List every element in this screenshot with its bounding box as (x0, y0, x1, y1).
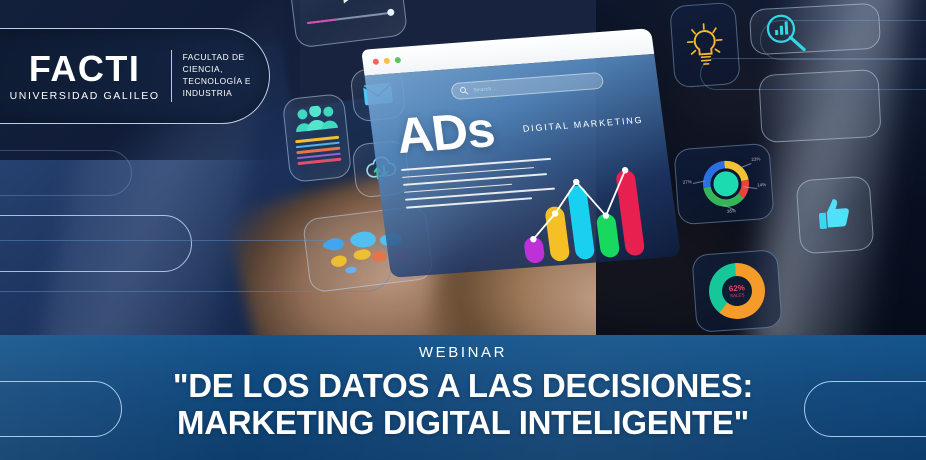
browser-content: Search... ADs DIGITAL MARKETING (365, 54, 681, 278)
donut-center-value: 62% SALES (729, 283, 746, 298)
ads-heading: ADs (393, 100, 497, 165)
webinar-kicker: WEBINAR (0, 344, 926, 361)
donut-single-chart: 62% SALES (707, 261, 767, 321)
webinar-title-line-1: "DE LOS DATOS A LAS DECISIONES: (0, 367, 926, 404)
webinar-poster: FACTI UNIVERSIDAD GALILEO FACULTAD DE CI… (0, 0, 926, 460)
donut-label-23: 23% (751, 156, 760, 162)
search-icon (459, 86, 469, 96)
thumbs-up-icon (813, 193, 858, 238)
video-progress-handle[interactable] (387, 8, 395, 16)
digital-marketing-tagline: DIGITAL MARKETING (522, 115, 644, 134)
donut-label-14: 14% (757, 182, 766, 188)
donut-multi-hole (709, 167, 742, 200)
facti-logo-badge: FACTI UNIVERSIDAD GALILEO FACULTAD DE CI… (0, 28, 270, 124)
search-input[interactable]: Search... (450, 72, 604, 100)
logo-facti-text: FACTI (29, 51, 141, 87)
logo-faculty-text: FACULTAD DE CIENCIA, TECNOLOGÍA E INDUST… (183, 52, 251, 100)
donut-label-27: 27% (683, 179, 692, 185)
tile-like[interactable] (796, 176, 875, 255)
logo-divider (171, 50, 172, 102)
faculty-line-4: INDUSTRIA (183, 88, 251, 100)
play-icon[interactable] (333, 0, 362, 11)
bottom-banner: WEBINAR "DE LOS DATOS A LAS DECISIONES: … (0, 335, 926, 460)
faculty-line-2: CIENCIA, (183, 64, 251, 76)
audience-bar-chart (295, 136, 341, 165)
donut-center-sub: SALES (729, 292, 745, 298)
webinar-title-line-2: MARKETING DIGITAL INTELIGENTE" (0, 404, 926, 441)
window-maximize-dot[interactable] (394, 57, 401, 63)
webinar-title: "DE LOS DATOS A LAS DECISIONES: MARKETIN… (0, 367, 926, 442)
decor-pill-left-3 (0, 150, 132, 196)
tile-empty-glass (758, 69, 881, 143)
window-minimize-dot[interactable] (383, 58, 390, 64)
tile-donut-single[interactable]: 62% SALES (691, 249, 782, 333)
faculty-line-1: FACULTAD DE (183, 52, 251, 64)
people-icon (292, 104, 338, 134)
video-progress-fill (307, 18, 337, 24)
trend-line (514, 160, 662, 263)
logo-university-text: UNIVERSIDAD GALILEO (10, 91, 160, 102)
decor-pill-right-1 (760, 20, 926, 60)
browser-mockup[interactable]: Search... ADs DIGITAL MARKETING (361, 28, 681, 278)
tile-audience[interactable] (282, 93, 352, 183)
logo-wordmark: FACTI UNIVERSIDAD GALILEO (10, 51, 160, 102)
search-placeholder: Search... (473, 85, 497, 93)
ads-bar-chart (514, 160, 662, 263)
window-close-dot[interactable] (372, 59, 379, 65)
faculty-line-3: TECNOLOGÍA E (183, 76, 251, 88)
tile-donut-multi[interactable]: 23% 14% 36% 27% (673, 143, 774, 226)
